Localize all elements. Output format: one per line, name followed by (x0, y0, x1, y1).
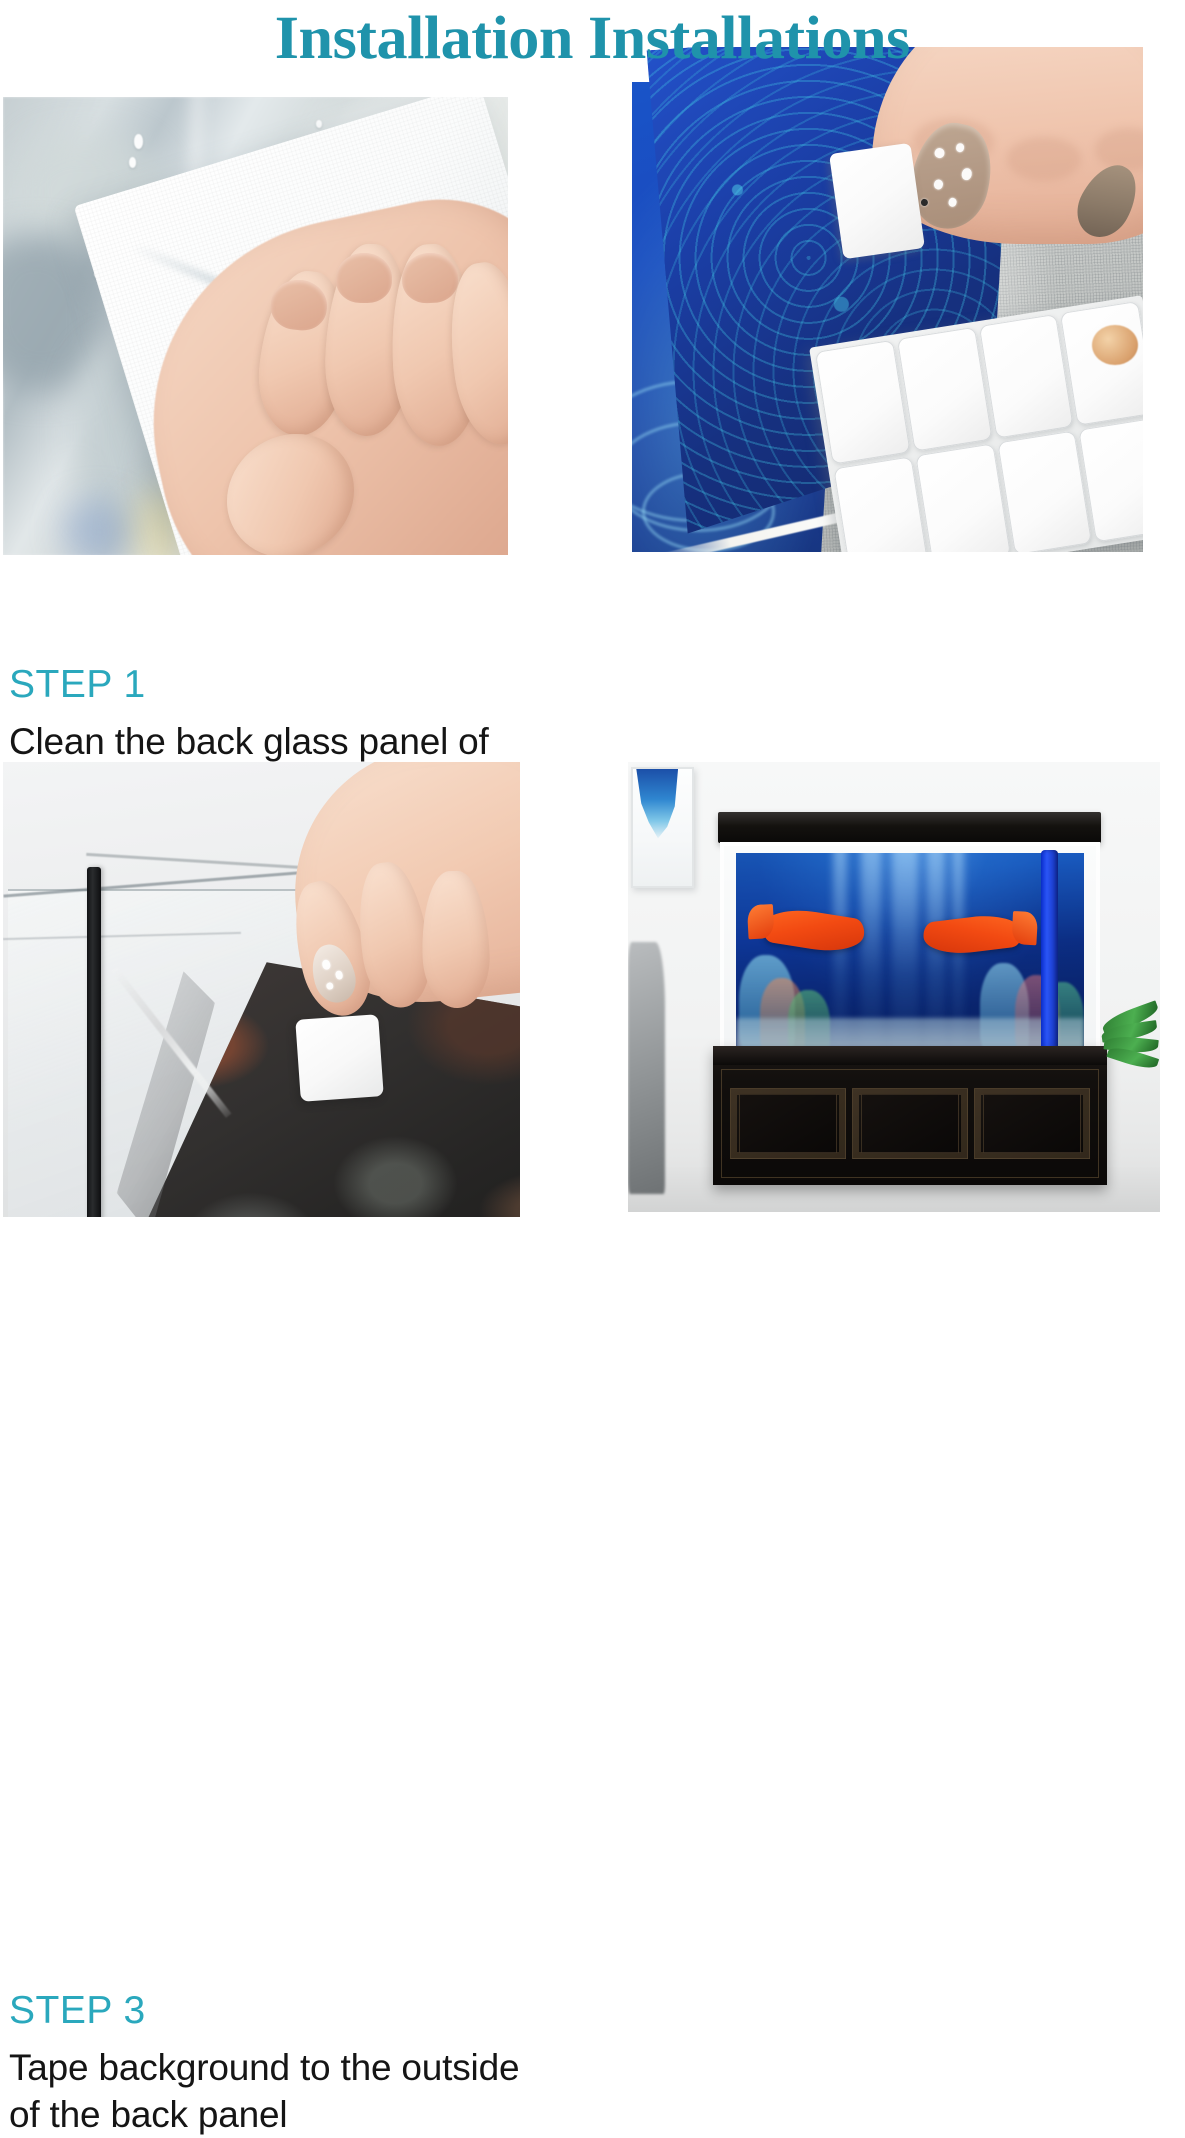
background-pebble (1092, 325, 1138, 365)
tape-pad (997, 430, 1093, 552)
tank-hood (718, 812, 1101, 844)
step-card-4: STEP 4 Smooth it gently with your hands (628, 762, 1160, 1212)
step-card-2: STEP 2 Glue double-sided tape to the 4 c… (632, 47, 1143, 552)
step-1-label: STEP 1 (9, 662, 539, 708)
installation-steps-grid: STEP 1 Clean the back glass panel of you… (0, 0, 1185, 1398)
furniture-blur (628, 942, 665, 1194)
tank-glass (720, 842, 1099, 1056)
house-plant (1099, 996, 1158, 1095)
wall-art-graphic (636, 769, 678, 842)
step-3-label: STEP 3 (9, 1988, 539, 2034)
stand-door[interactable] (974, 1088, 1090, 1159)
aquarium-tank (718, 812, 1101, 1055)
water-droplet (134, 134, 143, 149)
step-card-3: STEP 3 Tape background to the outside of… (3, 762, 520, 1217)
aquarium-scene (736, 853, 1085, 1050)
door-panel-inset (983, 1094, 1081, 1153)
aquarium-stand (713, 1046, 1107, 1186)
step-1-photo (3, 97, 508, 555)
tape-pad (897, 326, 993, 451)
door-panel-inset (739, 1094, 837, 1153)
stand-top-trim (713, 1046, 1107, 1066)
step-3-caption: STEP 3 Tape background to the outside of… (9, 1988, 539, 2138)
step-3-photo (3, 762, 520, 1217)
stand-door[interactable] (730, 1088, 846, 1159)
step-3-description: Tape background to the outside of the ba… (9, 2044, 539, 2138)
double-sided-tape-square (295, 1014, 383, 1101)
step-4-photo (628, 762, 1160, 1212)
stand-door-row (721, 1069, 1099, 1178)
blue-filter-tube (1041, 850, 1058, 1055)
tape-pad (815, 339, 911, 464)
tape-pad (915, 443, 1011, 552)
step-2-photo (632, 47, 1143, 552)
red-arowana-fish (761, 904, 867, 957)
stand-door[interactable] (852, 1088, 968, 1159)
water-droplet (129, 157, 136, 168)
double-sided-tape-square (829, 143, 925, 259)
step-card-1: STEP 1 Clean the back glass panel of you… (3, 97, 508, 555)
tank-corner-trim (87, 867, 101, 1217)
fingernail (336, 253, 392, 303)
tape-pad (979, 313, 1075, 438)
water-droplet (316, 120, 322, 128)
background-blur-shape (64, 500, 135, 555)
door-panel-inset (861, 1094, 959, 1153)
wall-art-frame (631, 767, 695, 889)
tape-pad (833, 456, 929, 552)
tape-pad (1060, 301, 1143, 426)
